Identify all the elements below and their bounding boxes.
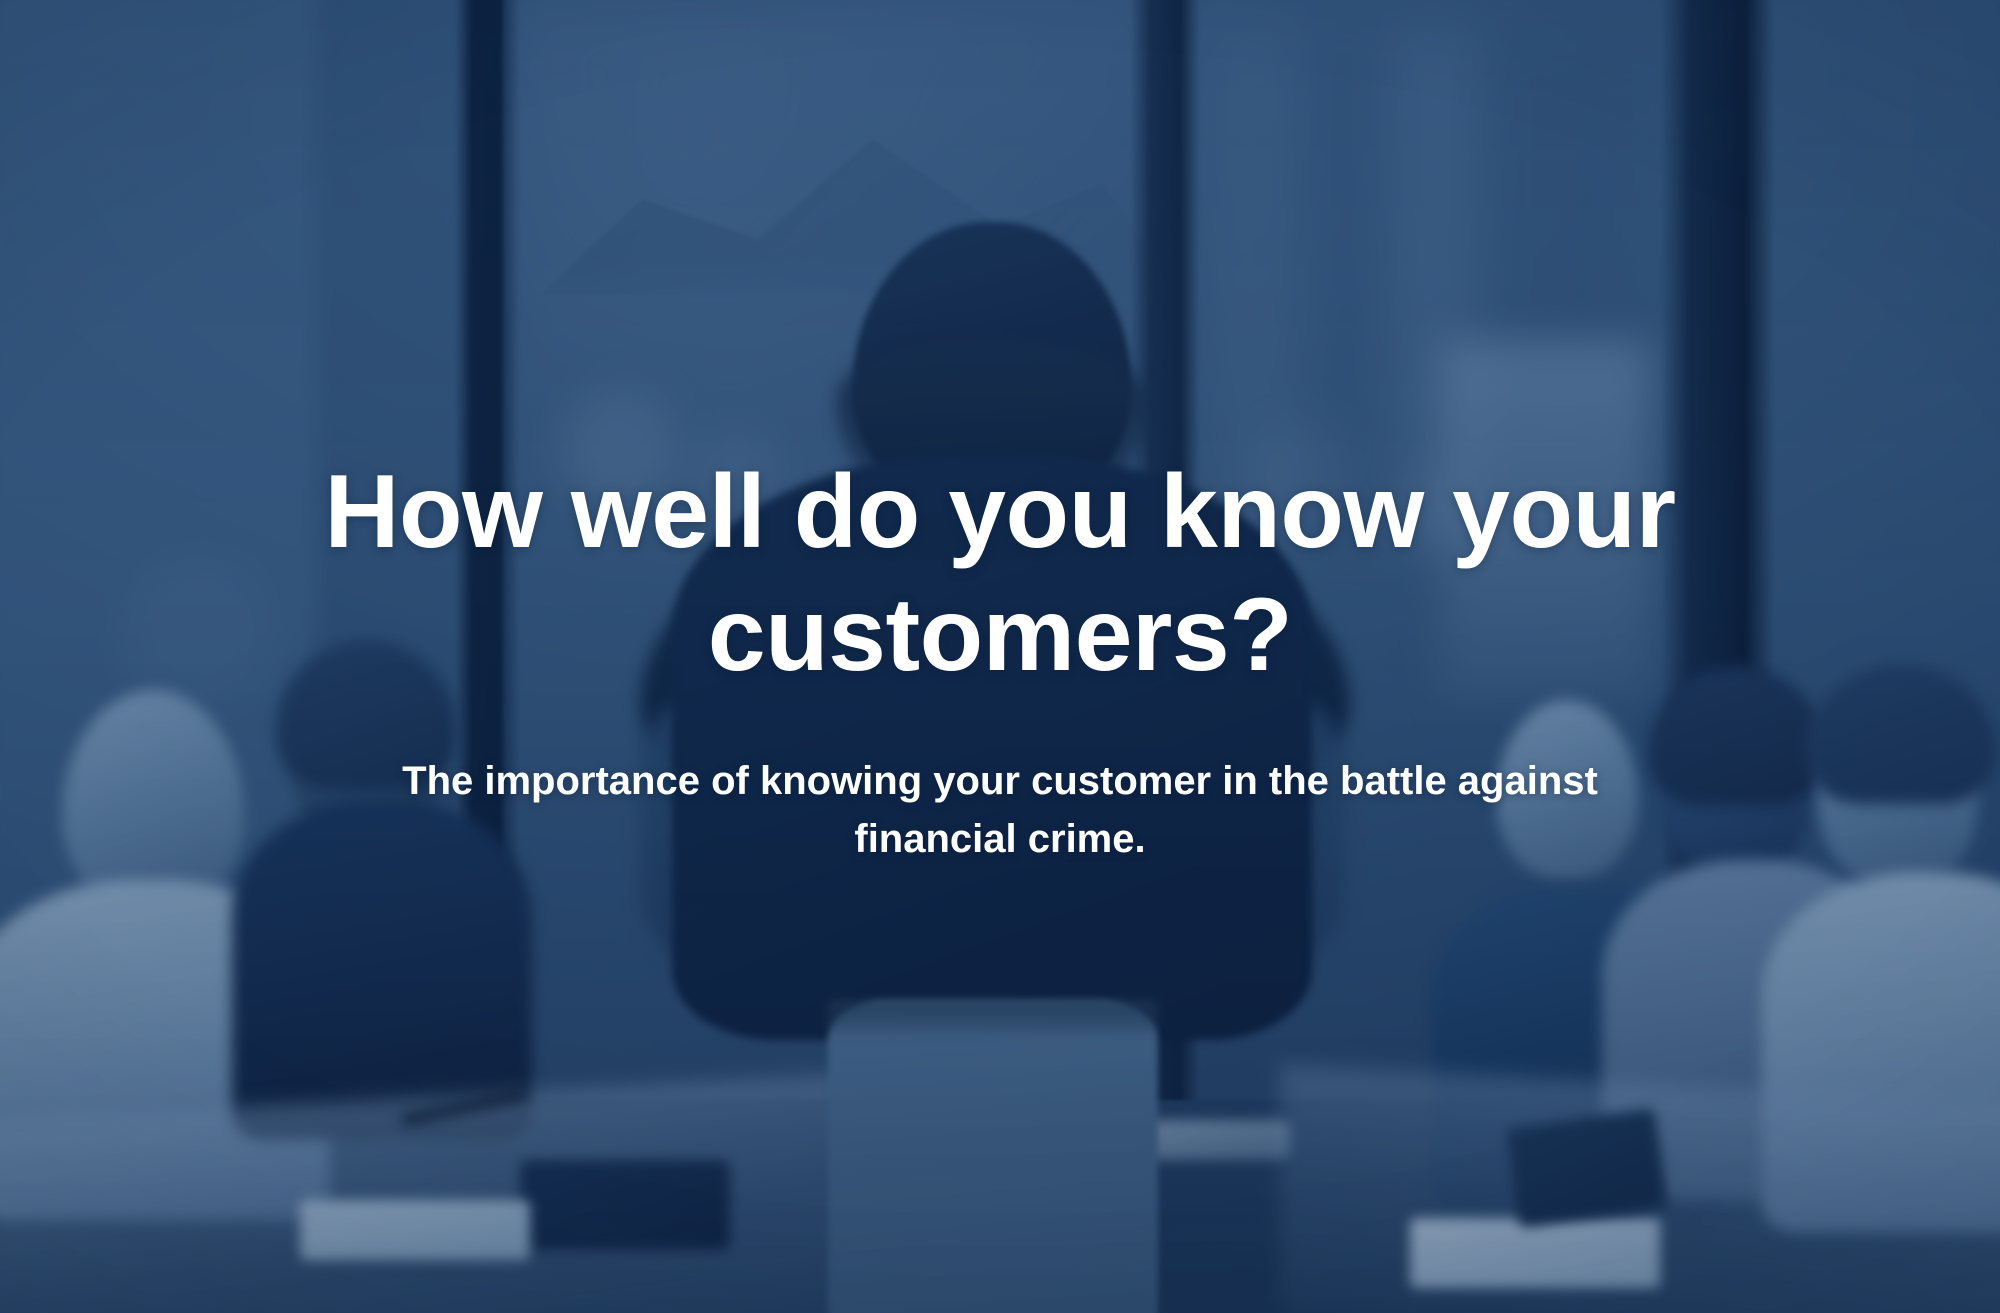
text-overlay: How well do you know your customers? The…	[0, 0, 2000, 1313]
slide-subheadline: The importance of knowing your customer …	[370, 752, 1630, 868]
slide-headline: How well do you know your customers?	[285, 451, 1715, 696]
hero-slide: How well do you know your customers? The…	[0, 0, 2000, 1313]
